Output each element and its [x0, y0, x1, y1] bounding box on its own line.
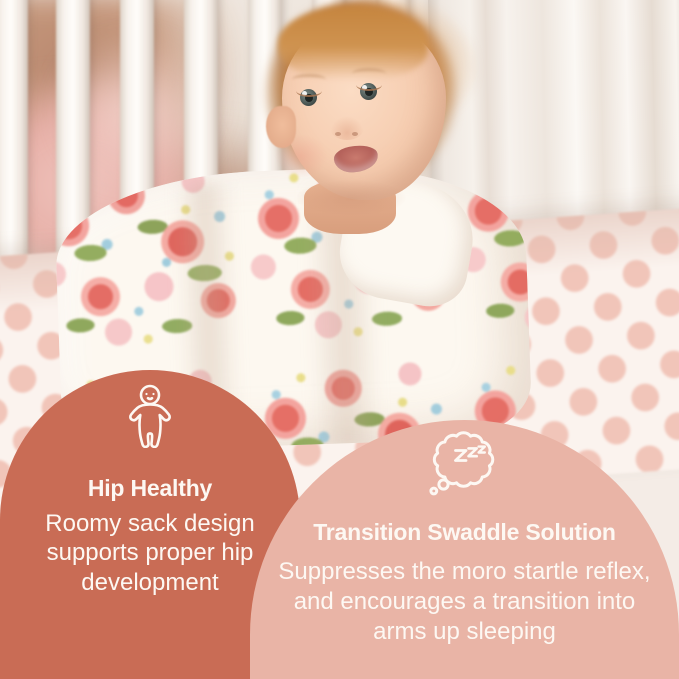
feature-description: Roomy sack design supports proper hip de…: [30, 509, 270, 597]
feature-title: Hip Healthy: [88, 475, 212, 502]
baby-chin-shadow: [296, 180, 406, 216]
baby-nose: [330, 116, 364, 140]
feature-description: Suppresses the moro startle reflex, and …: [265, 557, 665, 648]
baby-cheek: [274, 134, 328, 178]
eyelid: [356, 79, 382, 91]
baby-icon: [122, 384, 178, 453]
baby-eye: [296, 88, 322, 107]
nostril: [352, 132, 358, 136]
eyelid: [296, 85, 322, 97]
baby-eye: [356, 82, 382, 101]
baby-eyebrow: [352, 68, 386, 79]
feature-title: Transition Swaddle Solution: [313, 519, 616, 546]
baby-fringe: [278, 6, 428, 80]
product-feature-graphic: Hip Healthy Roomy sack design supports p…: [0, 0, 679, 679]
sleep-thought-bubble-zzz-icon: [426, 430, 504, 505]
nostril: [335, 132, 341, 136]
baby: [238, 0, 538, 424]
baby-eyebrow: [292, 74, 326, 85]
